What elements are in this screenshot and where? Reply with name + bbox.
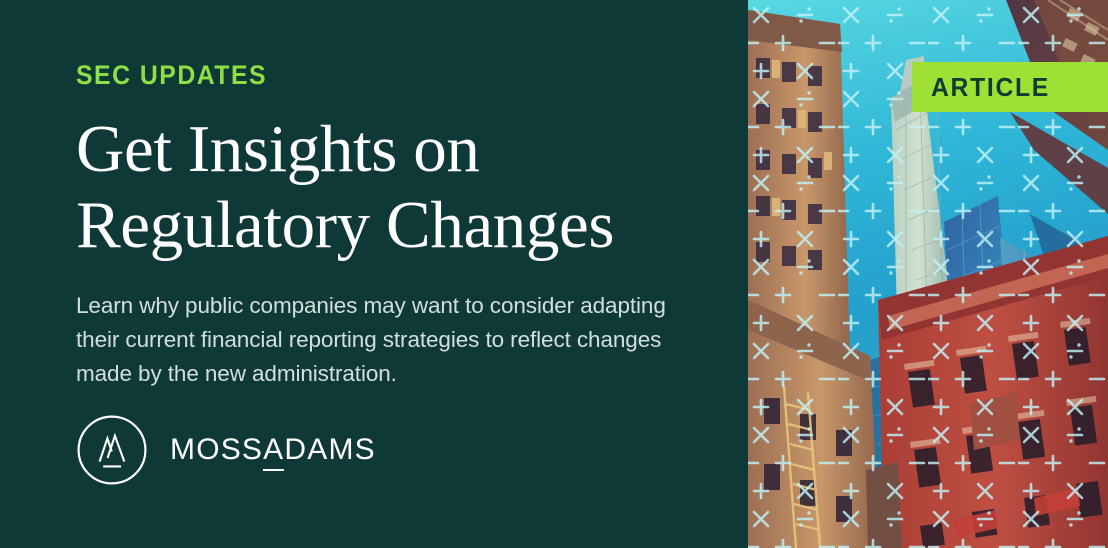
article-badge: ARTICLE bbox=[912, 62, 1108, 112]
moss-adams-wordmark: MOSSADAMS bbox=[170, 435, 376, 465]
eyebrow-label: SEC UPDATES bbox=[76, 62, 694, 89]
article-promo-banner: SEC UPDATES Get Insights on Regulatory C… bbox=[0, 0, 1108, 548]
hero-photo: ARTICLE bbox=[748, 0, 1108, 548]
moss-adams-logo[interactable]: MOSSADAMS bbox=[76, 414, 376, 486]
page-title: Get Insights on Regulatory Changes bbox=[76, 111, 716, 263]
description-text: Learn why public companies may want to c… bbox=[76, 289, 701, 391]
headline-line-2: Regulatory Changes bbox=[76, 187, 716, 263]
wordmark-a: A bbox=[263, 433, 284, 471]
wordmark-dams: DAMS bbox=[284, 433, 375, 466]
content-panel: SEC UPDATES Get Insights on Regulatory C… bbox=[0, 0, 748, 548]
article-badge-label: ARTICLE bbox=[931, 74, 1050, 100]
headline-line-1: Get Insights on bbox=[76, 111, 716, 187]
wordmark-moss: MOSS bbox=[170, 433, 263, 466]
moss-adams-mountain-mark bbox=[76, 414, 148, 486]
